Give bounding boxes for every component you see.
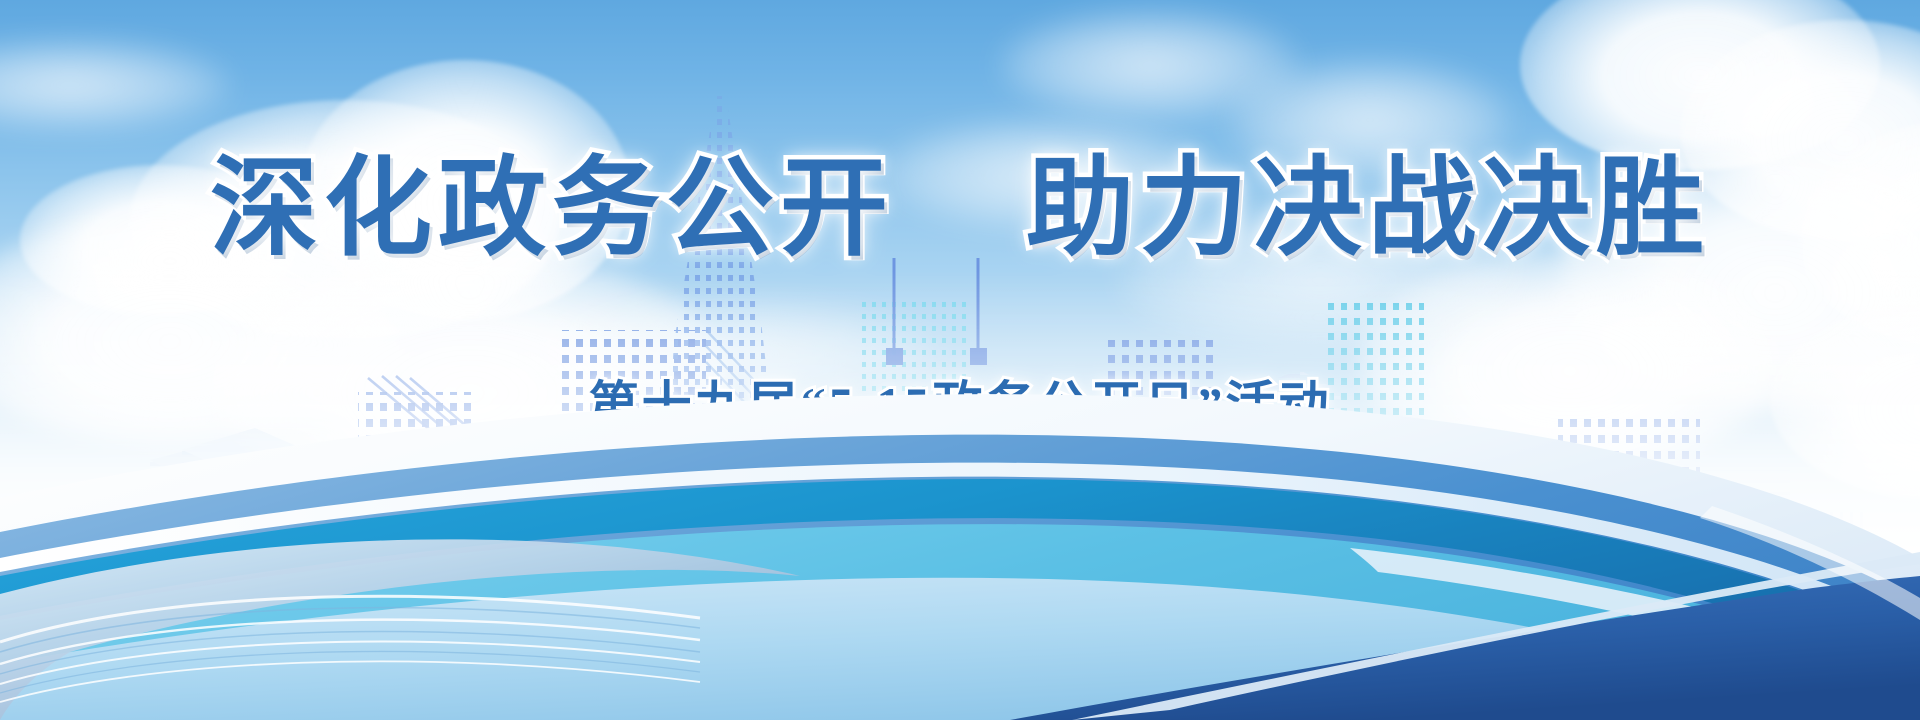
cloud-shape [300,60,630,320]
cloud-shape [20,165,300,315]
wave-graphic [0,380,1920,720]
cloud-shape [1770,300,1920,500]
building-dot-tower-centre-right [858,300,966,720]
wave-cyan [0,524,1920,720]
building-base-stubs [510,600,1094,720]
building-dot-tower-right-b [1328,300,1424,720]
cloud-shape [210,250,730,510]
wave-crest-highlight [1700,506,1920,620]
wave-separator-light [0,463,1920,642]
city-skyline [0,0,1920,720]
building-dot-tower-left [358,376,530,720]
wave-deep-teal [0,479,1920,686]
wave-loop-lines-blue [0,608,700,693]
cloud-shape [1560,150,1920,410]
cloud-shape [130,100,560,340]
banner-root: 深化政务公开 助力决战决胜 第十九届“5·15政务公开日”活动 [0,0,1920,720]
wave-medium-blue [0,435,1920,720]
building-fan-crown-right [1432,440,1562,720]
cloud-wisp [760,380,1140,500]
wave-front-highlight [1350,548,1920,696]
wave-navy-wedge [1010,576,1920,720]
skyline-haze [0,270,1920,600]
cloud-wisp [520,300,940,410]
building-faint-far-right [1702,470,1870,720]
wave-loop-lines [0,596,700,702]
cloud-shape [1520,0,1880,170]
wave-steel-loop [0,539,800,720]
building-line-block-right [1222,370,1340,720]
cloud-wisp [1230,60,1510,180]
building-dot-pyramid-left [300,510,362,720]
wave-pale-blue [0,578,1880,720]
central-spire-tower [620,90,820,620]
cloud-wisp [0,40,230,130]
cloud-shape [1360,250,1780,470]
building-line-tower-left [150,440,252,720]
wave-white-back [0,394,1920,720]
cloud-shape [1680,20,1920,240]
building-faint-slab-left [474,432,560,720]
building-fan-crown-left [566,494,656,720]
building-ridge-tower [1000,492,1096,720]
wave-navy-sliver [1072,552,1920,720]
cloud-wisp [880,120,1210,230]
cloud-shape [1800,120,1920,350]
headline-group: 深化政务公开 助力决战决胜 第十九届“5·15政务公开日”活动 [0,0,1920,720]
building-faint-dots-centre [742,500,800,720]
building-angled-left [182,428,305,720]
cloud-wisp [1000,10,1300,120]
building-dot-tower-right-a [1108,340,1218,720]
page-title: 深化政务公开 助力决战决胜 [0,152,1920,269]
building-dot-block-centre-left [556,330,790,720]
building-mast-pair [886,258,987,365]
page-subtitle: 第十九届“5·15政务公开日”活动 [0,378,1920,433]
cloud-shape [0,215,400,445]
building-dot-tower-far-right [1558,418,1700,720]
cloud-wisp [1120,210,1520,350]
